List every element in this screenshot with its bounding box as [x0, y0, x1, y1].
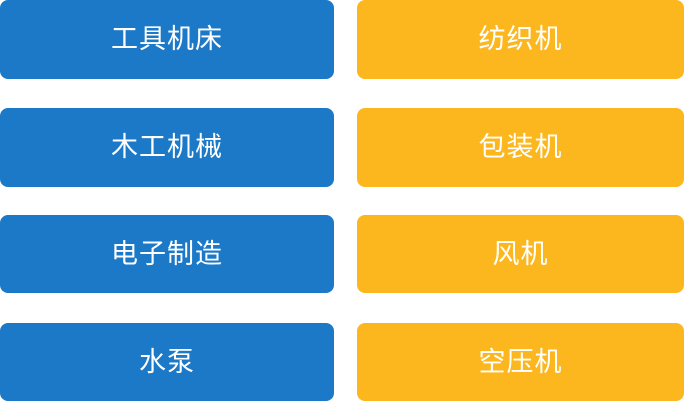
category-button-label: 木工机械	[111, 134, 223, 161]
category-button-label: 风机	[493, 241, 549, 268]
category-button-label: 纺织机	[479, 26, 563, 53]
category-button-label: 空压机	[479, 349, 563, 376]
category-button-label: 水泵	[139, 349, 195, 376]
category-button-woodworking-machinery[interactable]: 木工机械	[0, 108, 334, 187]
category-button-packaging-machine[interactable]: 包装机	[357, 108, 684, 187]
category-button-air-compressor[interactable]: 空压机	[357, 323, 684, 401]
category-button-label: 工具机床	[111, 26, 223, 53]
category-button-electronics-manufacturing[interactable]: 电子制造	[0, 215, 334, 293]
category-button-machine-tools[interactable]: 工具机床	[0, 0, 334, 79]
category-button-label: 包装机	[479, 134, 563, 161]
category-button-water-pump[interactable]: 水泵	[0, 323, 334, 401]
category-button-textile-machine[interactable]: 纺织机	[357, 0, 684, 79]
category-button-label: 电子制造	[111, 241, 223, 268]
category-button-fan[interactable]: 风机	[357, 215, 684, 293]
category-button-grid: 工具机床 纺织机 木工机械 包装机 电子制造 风机 水泵 空压机	[0, 0, 686, 401]
